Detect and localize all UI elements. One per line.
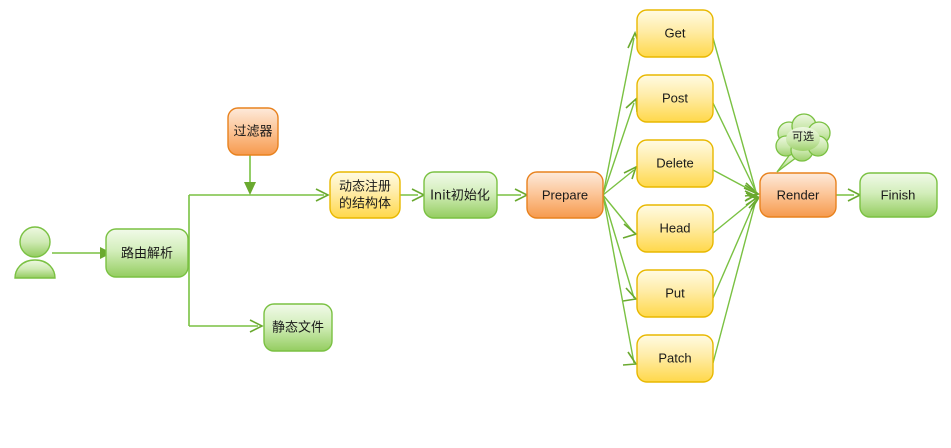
node-head[interactable]: Head	[637, 205, 713, 252]
node-route-parse[interactable]: 路由解析	[106, 229, 188, 277]
node-finish[interactable]: Finish	[860, 173, 937, 217]
node-render[interactable]: Render	[760, 173, 836, 217]
optional-cloud-callout: 可选	[776, 114, 830, 172]
edge-prepare-to-patch	[603, 195, 636, 365]
edge-render-to-finish	[836, 189, 860, 201]
edge-actor-to-route	[52, 247, 112, 259]
node-init[interactable]: Init初始化	[424, 172, 497, 218]
node-delete[interactable]: Delete	[637, 140, 713, 187]
cloud-body	[776, 114, 830, 161]
user-actor	[15, 227, 55, 278]
edge-patch-to-render	[713, 195, 758, 363]
node-prepare[interactable]: Prepare	[527, 172, 603, 218]
node-patch[interactable]: Patch	[637, 335, 713, 382]
node-static-file[interactable]: 静态文件	[264, 304, 332, 351]
edge-init-to-prepare	[497, 189, 527, 201]
flowchart-diagram: 路由解析 过滤器 静态文件 动态注册 的结构体 Init初始化 Prepare	[0, 0, 951, 448]
node-put[interactable]: Put	[637, 270, 713, 317]
node-filter[interactable]: 过滤器	[228, 108, 278, 155]
edge-register-to-init	[400, 189, 424, 201]
edge-prepare-to-head	[603, 195, 636, 238]
diagram-canvas: 路由解析 过滤器 静态文件 动态注册 的结构体 Init初始化 Prepare	[0, 0, 951, 448]
edge-filter-to-trunk	[244, 155, 256, 195]
node-dynamic-register[interactable]: 动态注册 的结构体	[330, 172, 400, 218]
node-get[interactable]: Get	[637, 10, 713, 57]
node-post[interactable]: Post	[637, 75, 713, 122]
